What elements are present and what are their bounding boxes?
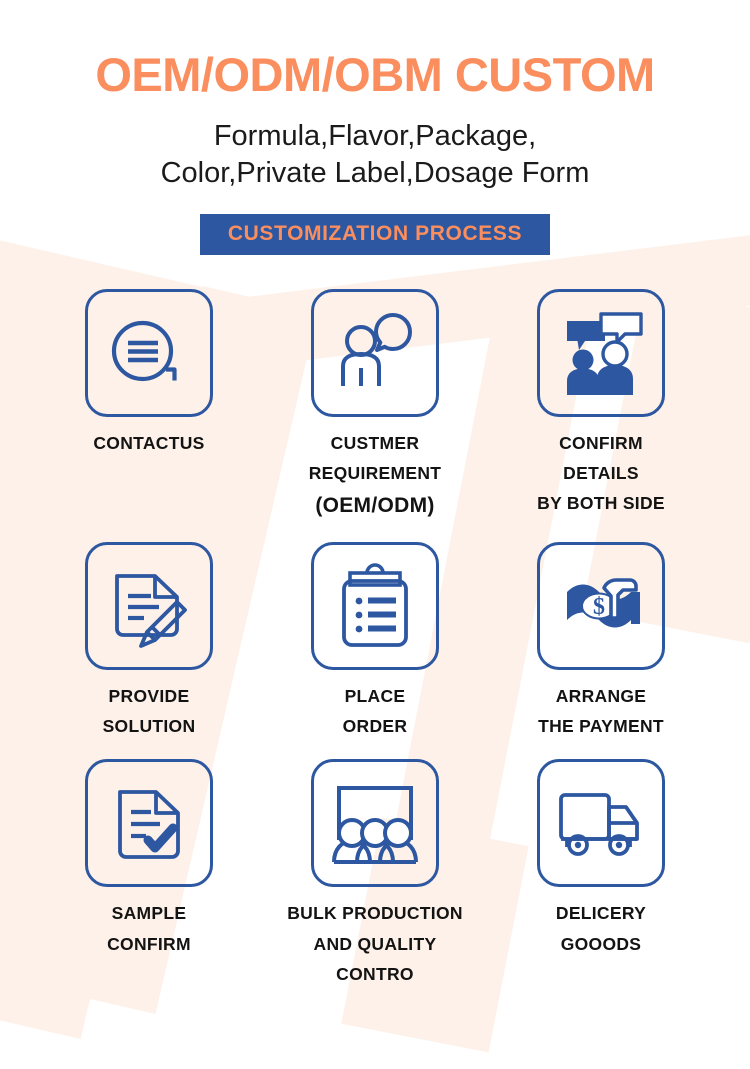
step-label-line: SOLUTION bbox=[103, 711, 196, 741]
step-label-line: BULK PRODUCTION bbox=[287, 898, 463, 928]
document-check-icon bbox=[104, 778, 194, 868]
process-step-5: PLACE ORDER bbox=[262, 542, 488, 741]
step-label-line: PLACE bbox=[343, 681, 408, 711]
step-label-line: DETAILS bbox=[537, 458, 665, 488]
step-icon-card bbox=[85, 542, 213, 670]
process-step-9: DELICERY GOOODS bbox=[488, 759, 714, 988]
person-speech-bubble-icon bbox=[328, 306, 422, 400]
customization-process-banner: CUSTOMIZATION PROCESS bbox=[200, 214, 550, 255]
process-step-2: CUSTMER REQUIREMENT (OEM/ODM) bbox=[262, 289, 488, 524]
step-label-line: GOOODS bbox=[556, 929, 646, 959]
step-icon-card: $ bbox=[537, 542, 665, 670]
process-step-1: CONTACTUS bbox=[36, 289, 262, 524]
customization-process-infographic: OEM/ODM/OBM CUSTOM Formula,Flavor,Packag… bbox=[0, 0, 750, 1069]
step-label-line: REQUIREMENT bbox=[309, 458, 442, 488]
process-step-8: BULK PRODUCTION AND QUALITY CONTRO bbox=[262, 759, 488, 988]
hand-money-dollar-icon: $ bbox=[555, 560, 647, 652]
step-label: PLACE ORDER bbox=[343, 681, 408, 741]
step-label-line: SAMPLE bbox=[107, 898, 191, 928]
step-label: CUSTMER REQUIREMENT (OEM/ODM) bbox=[309, 428, 442, 524]
step-label: PROVIDE SOLUTION bbox=[103, 681, 196, 741]
step-label-line: BY BOTH SIDE bbox=[537, 488, 665, 518]
process-step-3: CONFIRM DETAILS BY BOTH SIDE bbox=[488, 289, 714, 524]
step-label-line: AND QUALITY bbox=[287, 929, 463, 959]
step-label-line: (OEM/ODM) bbox=[309, 488, 442, 524]
step-label-line: DELICERY bbox=[556, 898, 646, 928]
step-label: CONTACTUS bbox=[93, 428, 204, 458]
page-title: OEM/ODM/OBM CUSTOM bbox=[0, 50, 750, 99]
step-label: DELICERY GOOODS bbox=[556, 898, 646, 958]
step-icon-card bbox=[311, 759, 439, 887]
svg-text:$: $ bbox=[593, 594, 605, 620]
step-icon-card bbox=[311, 542, 439, 670]
speech-bubble-lines-icon bbox=[103, 307, 195, 399]
document-pencil-icon bbox=[103, 560, 195, 652]
process-step-7: SAMPLE CONFIRM bbox=[36, 759, 262, 988]
page-subtitle: Formula,Flavor,Package, Color,Private La… bbox=[0, 118, 750, 192]
people-group-board-icon bbox=[328, 778, 422, 868]
step-icon-card bbox=[85, 759, 213, 887]
step-icon-card bbox=[537, 759, 665, 887]
step-label: ARRANGE THE PAYMENT bbox=[538, 681, 664, 741]
step-label-line: CONFIRM bbox=[537, 428, 665, 458]
clipboard-list-icon bbox=[330, 561, 420, 651]
step-label: BULK PRODUCTION AND QUALITY CONTRO bbox=[287, 898, 463, 988]
step-label: SAMPLE CONFIRM bbox=[107, 898, 191, 958]
step-label: CONFIRM DETAILS BY BOTH SIDE bbox=[537, 428, 665, 518]
step-label-line: ARRANGE bbox=[538, 681, 664, 711]
header: OEM/ODM/OBM CUSTOM Formula,Flavor,Packag… bbox=[0, 0, 750, 255]
step-label-line: CUSTMER bbox=[309, 428, 442, 458]
banner-container: CUSTOMIZATION PROCESS bbox=[0, 214, 750, 255]
step-label-line: CONTRO bbox=[287, 959, 463, 989]
subtitle-line-1: Formula,Flavor,Package, bbox=[0, 118, 750, 155]
step-icon-card bbox=[85, 289, 213, 417]
subtitle-line-2: Color,Private Label,Dosage Form bbox=[0, 155, 750, 192]
step-label-line: CONFIRM bbox=[107, 929, 191, 959]
process-step-4: PROVIDE SOLUTION bbox=[36, 542, 262, 741]
step-icon-card bbox=[311, 289, 439, 417]
step-icon-card bbox=[537, 289, 665, 417]
step-label-line: CONTACTUS bbox=[93, 428, 204, 458]
delivery-truck-icon bbox=[554, 781, 648, 865]
two-people-talking-icon bbox=[553, 305, 649, 401]
step-label-line: THE PAYMENT bbox=[538, 711, 664, 741]
process-steps-grid: CONTACTUS CUSTMER REQUIREMENT (OEM/ODM) bbox=[0, 289, 750, 989]
step-label-line: ORDER bbox=[343, 711, 408, 741]
process-step-6: $ ARRANGE THE PAYMENT bbox=[488, 542, 714, 741]
step-label-line: PROVIDE bbox=[103, 681, 196, 711]
